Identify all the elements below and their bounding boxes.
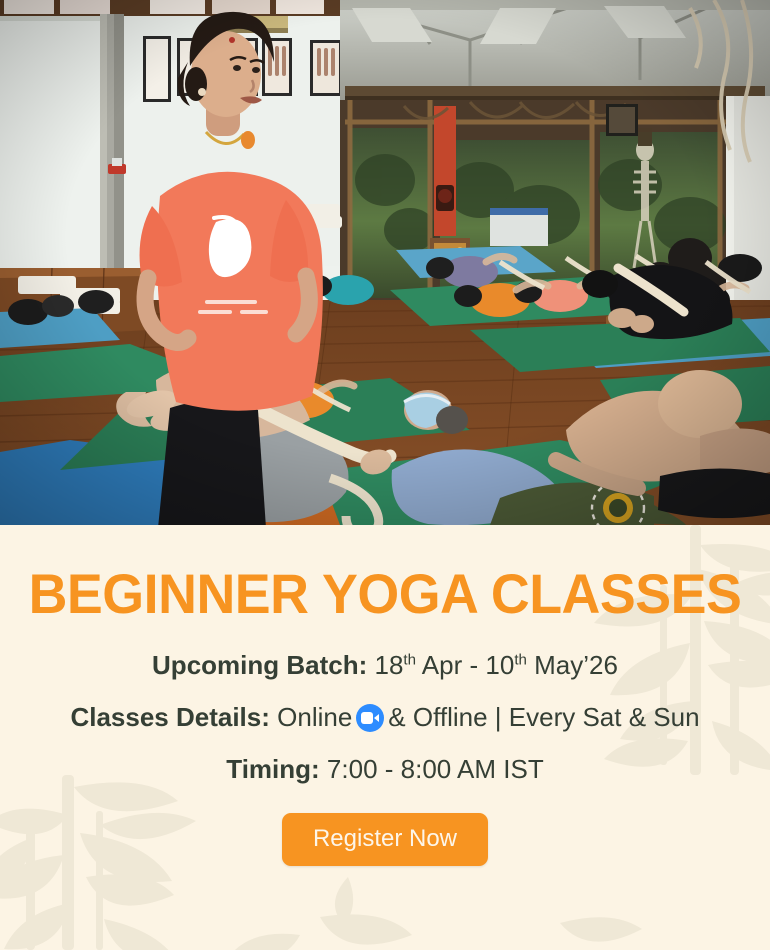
yoga-class-promo-poster: BEGINNER YOGA CLASSES Upcoming Batch: 18… [0, 0, 770, 950]
timing-value: 7:00 - 8:00 AM IST [327, 754, 544, 784]
yoga-class-photo [0, 0, 770, 525]
timing-line: Timing: 7:00 - 8:00 AM IST [0, 754, 770, 784]
mode-online-label: Online [277, 702, 352, 732]
batch-end-month: May’26 [534, 650, 618, 680]
classes-details-line: Classes Details: Online& Offline | Every… [0, 702, 770, 732]
class-days: Every Sat & Sun [509, 702, 700, 732]
timing-label: Timing: [226, 754, 319, 784]
register-now-button[interactable]: Register Now [282, 813, 488, 866]
batch-end-day: 10 [485, 650, 514, 680]
mode-offline-label: & Offline [388, 702, 487, 732]
cta-container: Register Now [0, 813, 770, 866]
batch-start-day: 18 [375, 650, 404, 680]
batch-start-ordinal: th [403, 651, 416, 668]
upcoming-batch-label: Upcoming Batch: [152, 650, 367, 680]
batch-range-separator: - [470, 650, 479, 680]
promo-details-panel: BEGINNER YOGA CLASSES Upcoming Batch: 18… [0, 525, 770, 950]
batch-end-ordinal: th [514, 651, 527, 668]
details-divider: | [495, 702, 502, 732]
upcoming-batch-line: Upcoming Batch: 18th Apr - 10th May’26 [0, 650, 770, 680]
classes-details-label: Classes Details: [70, 702, 269, 732]
batch-start-month: Apr [422, 650, 462, 680]
zoom-video-icon [356, 704, 384, 732]
page-title: BEGINNER YOGA CLASSES [15, 565, 754, 623]
